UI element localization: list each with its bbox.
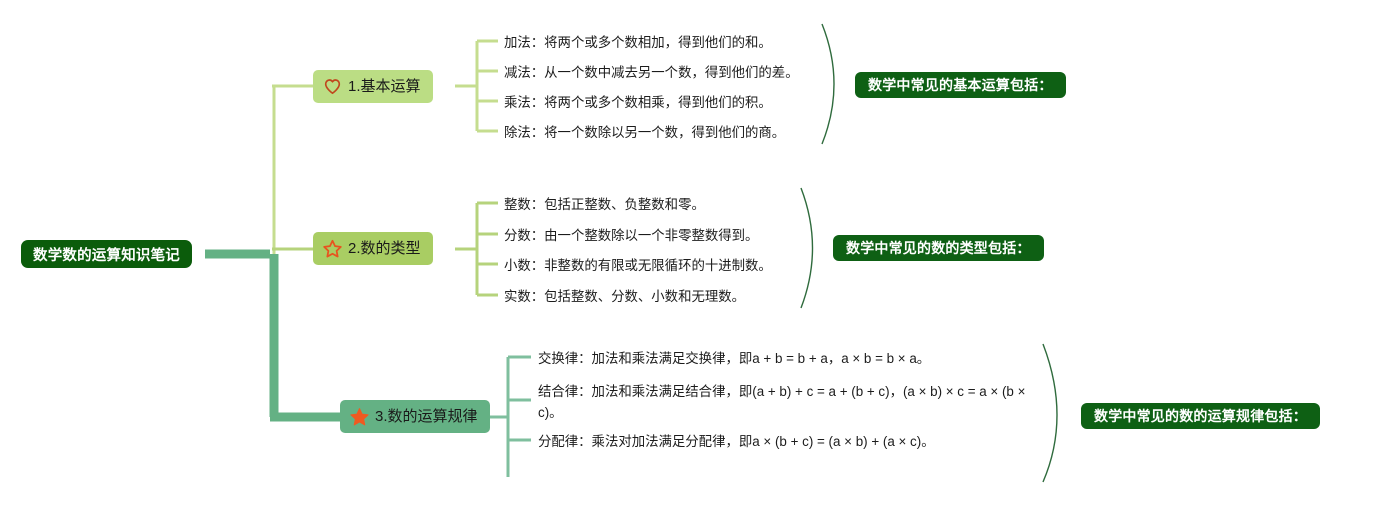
leaf-item: 乘法：将两个或多个数相乘，得到他们的积。	[504, 93, 772, 114]
branch-node-label: 1.基本运算	[348, 79, 421, 94]
leaf-item: 加法：将两个或多个数相加，得到他们的和。	[504, 33, 772, 54]
mindmap-canvas: 数学数的运算知识笔记 1.基本运算 加法：将两个或多个数相加，得到他们的和。 减…	[0, 0, 1396, 510]
branch-node-label: 3.数的运算规律	[375, 409, 478, 424]
branch-node-operation-laws[interactable]: 3.数的运算规律	[340, 400, 490, 433]
star-filled-icon	[349, 406, 370, 427]
branch-node-basic-operations[interactable]: 1.基本运算	[313, 70, 433, 103]
heart-outline-icon	[322, 76, 343, 97]
leaf-item: 除法：将一个数除以另一个数，得到他们的商。	[504, 123, 785, 144]
star-outline-icon	[322, 238, 343, 259]
summary-pill-number-types[interactable]: 数学中常见的数的类型包括：	[833, 235, 1044, 261]
leaf-item: 整数：包括正整数、负整数和零。	[504, 195, 705, 216]
root-node-label: 数学数的运算知识笔记	[33, 244, 180, 265]
leaf-item: 交换律：加法和乘法满足交换律，即a + b = b + a，a × b = b …	[538, 349, 1058, 370]
branch-node-label: 2.数的类型	[348, 241, 421, 256]
summary-pill-basic-operations[interactable]: 数学中常见的基本运算包括：	[855, 72, 1066, 98]
root-node[interactable]: 数学数的运算知识笔记	[21, 240, 192, 268]
branch-node-number-types[interactable]: 2.数的类型	[313, 232, 433, 265]
summary-pill-operation-laws[interactable]: 数学中常见的数的运算规律包括：	[1081, 403, 1320, 429]
leaf-item: 结合律：加法和乘法满足结合律，即(a + b) + c = a + (b + c…	[538, 382, 1038, 424]
leaf-item: 减法：从一个数中减去另一个数，得到他们的差。	[504, 63, 799, 84]
leaf-item: 分配律：乘法对加法满足分配律，即a × (b + c) = (a × b) + …	[538, 432, 1058, 453]
leaf-item: 分数：由一个整数除以一个非零整数得到。	[504, 226, 758, 247]
leaf-item: 实数：包括整数、分数、小数和无理数。	[504, 287, 745, 308]
leaf-item: 小数：非整数的有限或无限循环的十进制数。	[504, 256, 772, 277]
